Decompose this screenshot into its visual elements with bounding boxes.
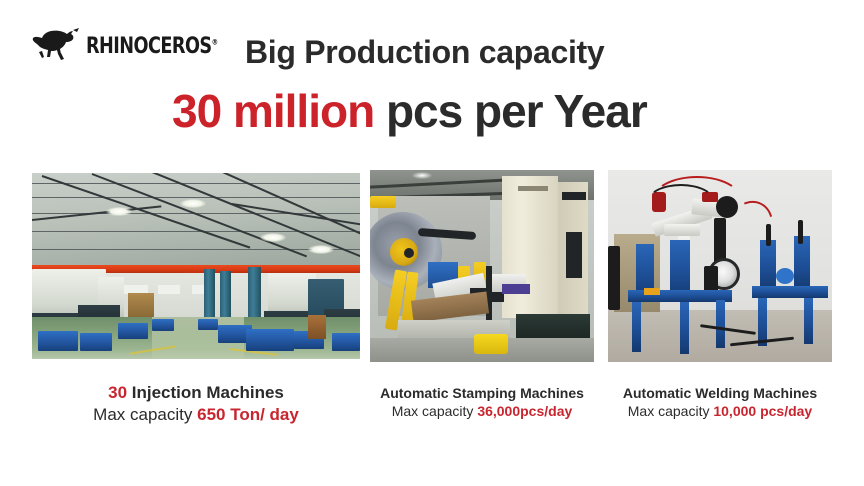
rotary-head [776, 268, 794, 284]
ceiling-lamp-icon [106, 207, 132, 216]
caption-injection-line2: Max capacity 650 Ton/ day [32, 404, 360, 426]
caption-injection-count: 30 [108, 383, 127, 402]
stamping-press-frame [502, 176, 558, 318]
caption-injection-label: Injection Machines [127, 383, 284, 402]
ceiling-lamp-icon [260, 233, 286, 242]
bench-leg [804, 298, 813, 344]
electrode-arm [798, 220, 803, 244]
blue-crate [332, 333, 360, 351]
roof-purlin [32, 183, 360, 184]
caption-welding-line2: Max capacity 10,000 pcs/day [606, 402, 834, 420]
welding-cable [646, 184, 716, 222]
caption-welding: Automatic Welding Machines Max capacity … [606, 384, 834, 421]
caption-stamping-line1: Automatic Stamping Machines [366, 384, 598, 402]
caption-injection: 30 Injection Machines Max capacity 650 T… [32, 382, 360, 427]
structural-column [220, 271, 231, 323]
caption-welding-line1: Automatic Welding Machines [606, 384, 834, 402]
caption-stamping-capacity-value: 36,000pcs/day [477, 403, 572, 419]
headline-rest: pcs per Year [374, 85, 647, 137]
photo-injection-workshop [32, 173, 360, 359]
ceiling-lamp-icon [180, 199, 206, 208]
brand-wordmark-text: RHINOCEROS [86, 33, 212, 59]
brand-logo: RHINOCEROS® [30, 24, 215, 68]
welding-fixture [794, 236, 810, 292]
wooden-pallet-stack [128, 293, 154, 317]
ceiling-lamp-icon [308, 245, 334, 254]
blue-crate [152, 319, 174, 331]
caption-stamping-line2: Max capacity 36,000pcs/day [366, 402, 598, 420]
brand-wordmark: RHINOCEROS® [86, 33, 218, 59]
cardboard-sack [308, 315, 326, 339]
caption-injection-line1: 30 Injection Machines [32, 382, 360, 404]
caption-stamping: Automatic Stamping Machines Max capacity… [366, 384, 598, 421]
ceiling-lamp-icon [412, 172, 432, 179]
headline: 30 million pcs per Year [172, 88, 647, 134]
roof-purlin [32, 231, 360, 232]
caption-welding-capacity-prefix: Max capacity [628, 403, 714, 419]
headline-figure: 30 million [172, 85, 374, 137]
caption-welding-capacity-value: 10,000 pcs/day [713, 403, 812, 419]
press-label [518, 186, 548, 191]
decoiler-arm [370, 196, 396, 208]
caption-injection-capacity-prefix: Max capacity [93, 405, 197, 424]
electrode-arm [766, 224, 771, 246]
bench-leg [680, 302, 689, 354]
caption-welding-label: Automatic Welding Machines [623, 385, 817, 401]
blue-crate [38, 331, 78, 351]
page-title: Big Production capacity [245, 34, 604, 71]
caption-injection-capacity-value: 650 Ton/ day [197, 405, 299, 424]
slide-header: RHINOCEROS® Big Production capacity 30 m… [0, 0, 864, 90]
welding-bench-top [752, 286, 828, 298]
photo-welding-machines [608, 170, 832, 362]
bench-leg [716, 300, 725, 348]
press-side-panel [566, 232, 582, 278]
workshop-roof [32, 173, 360, 269]
blue-crate [118, 323, 148, 339]
caption-stamping-capacity-prefix: Max capacity [392, 403, 478, 419]
blue-crate [80, 333, 112, 351]
caption-stamping-label: Automatic Stamping Machines [380, 385, 584, 401]
clamp-handle [644, 288, 660, 295]
registered-mark-icon: ® [212, 37, 218, 46]
decoiler-center [404, 248, 414, 258]
blue-crate [198, 319, 218, 330]
welding-fixture [760, 240, 776, 292]
press-control-box [562, 192, 586, 200]
photo-stamping-press [370, 170, 594, 362]
panel-display [502, 284, 530, 294]
bench-leg [632, 302, 641, 352]
robot-link [664, 224, 700, 236]
yellow-bin [474, 334, 508, 354]
blue-crate [246, 329, 294, 351]
roof-purlin [32, 197, 360, 198]
cabinet-side [608, 246, 620, 310]
wall-window [158, 285, 180, 294]
rhinoceros-silhouette-icon [30, 25, 82, 67]
